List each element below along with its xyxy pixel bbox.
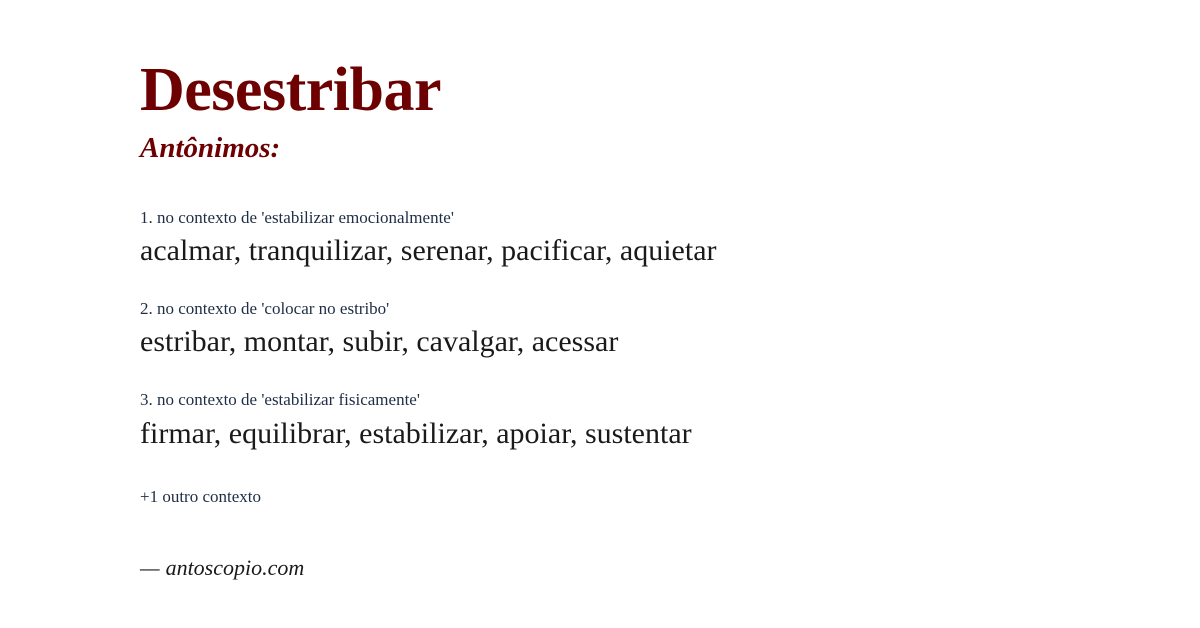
list-item: 3. no contexto de 'estabilizar fisicamen…	[140, 389, 1140, 452]
sense-context-label: 3. no contexto de 'estabilizar fisicamen…	[140, 389, 1140, 410]
list-item: 2. no contexto de 'colocar no estribo' e…	[140, 298, 1140, 361]
section-label-antonyms: Antônimos:	[140, 123, 1140, 165]
list-item: 1. no contexto de 'estabilizar emocional…	[140, 207, 1140, 270]
additional-contexts-note: +1 outro contexto	[140, 481, 1140, 507]
sense-antonyms: firmar, equilibrar, estabilizar, apoiar,…	[140, 411, 1140, 453]
page-title: Desestribar	[140, 0, 1140, 123]
attribution: —antoscopio.com	[140, 507, 1140, 581]
sense-antonyms: estribar, montar, subir, cavalgar, acess…	[140, 319, 1140, 361]
sense-list: 1. no contexto de 'estabilizar emocional…	[140, 165, 1140, 453]
em-dash-glyph: —	[140, 555, 166, 580]
sense-context-label: 1. no contexto de 'estabilizar emocional…	[140, 207, 1140, 228]
sense-context-label: 2. no contexto de 'colocar no estribo'	[140, 298, 1140, 319]
sense-antonyms: acalmar, tranquilizar, serenar, pacifica…	[140, 228, 1140, 270]
attribution-source: antoscopio.com	[166, 555, 305, 580]
antonym-card: Desestribar Antônimos: 1. no contexto de…	[0, 0, 1200, 628]
